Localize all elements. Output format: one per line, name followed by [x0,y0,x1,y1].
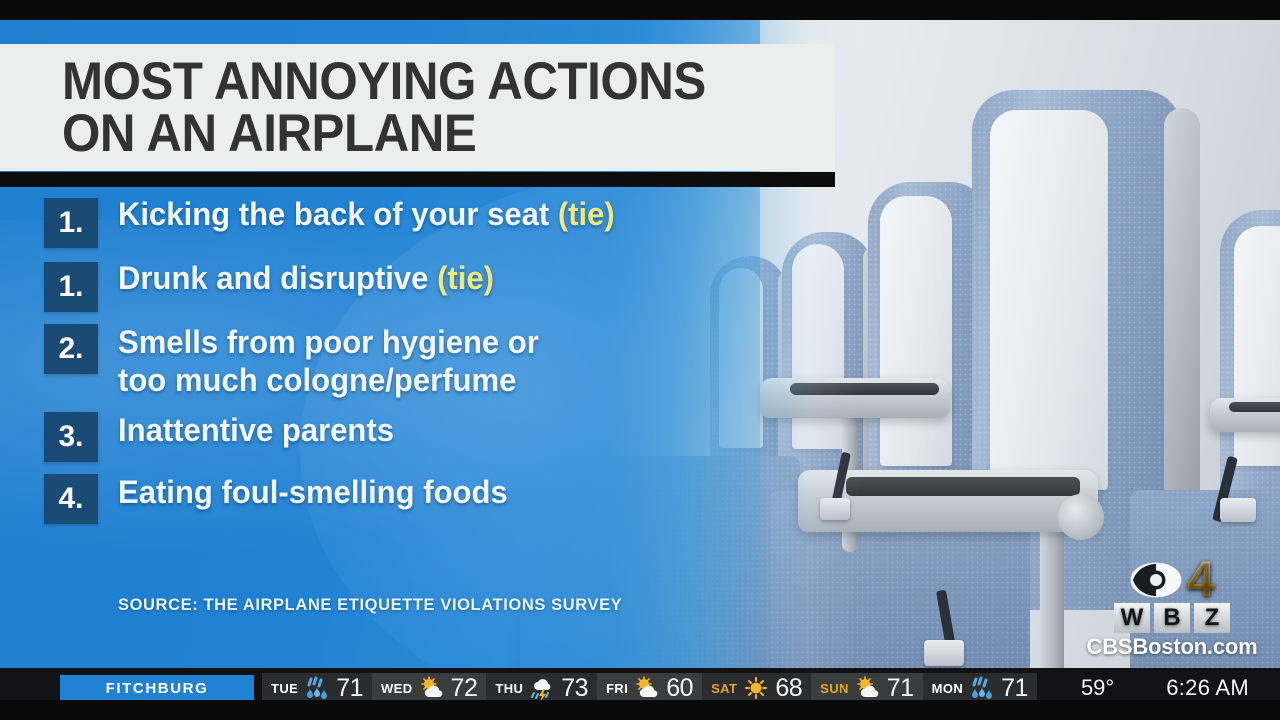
letterbox-bottom [0,700,1280,720]
headline-card: MOST ANNOYING ACTIONS ON AN AIRPLANE [0,44,835,171]
callsign-letter-b: B [1154,603,1190,633]
forecast-day-fri: FRI 60 [597,673,702,703]
forecast-high: 73 [561,674,588,703]
tie-marker: (tie) [437,260,494,296]
rain-icon [969,676,995,700]
logo-top-row: 4 [1082,557,1262,602]
list-item-text: Eating foul-smelling foods [118,474,508,512]
ticker-city-label: FITCHBURG [60,675,254,701]
forecast-high: 71 [1001,674,1028,703]
channel-number: 4 [1187,557,1215,602]
forecast-high: 68 [775,674,802,703]
station-website: CBSBoston.com [1082,634,1262,660]
tie-marker: (tie) [558,196,615,232]
forecast-day-label: TUE [271,681,298,696]
rank-badge: 1. [44,198,98,248]
sun-icon [743,676,769,700]
current-temperature: 59° [1081,675,1114,701]
thunderstorm-icon [529,676,555,700]
forecast-high: 71 [887,674,914,703]
rank-badge: 4. [44,474,98,524]
video-frame: MOST ANNOYING ACTIONS ON AN AIRPLANE 1. … [0,20,1280,710]
list-item: 3. Inattentive parents [44,412,744,462]
seatbelt-buckle-3 [1220,498,1256,522]
list-item: 2. Smells from poor hygiene or too much … [44,324,744,400]
forecast-day-label: MON [932,681,964,696]
list-item: 1. Drunk and disruptive (tie) [44,260,744,312]
rank-badge: 3. [44,412,98,462]
list-item-text: Drunk and disruptive [118,260,437,296]
forecast-day-sat: SAT 68 [702,673,811,703]
list-item-text: Smells from poor hygiene or too much col… [118,324,539,400]
rain-icon [304,676,330,700]
rank-badge: 1. [44,262,98,312]
list-item: 4. Eating foul-smelling foods [44,474,744,524]
forecast-day-label: FRI [606,681,628,696]
list-item-label: Drunk and disruptive (tie) [118,260,494,298]
letterbox-top [0,0,1280,20]
ranked-list: 1. Kicking the back of your seat (tie) 1… [44,196,744,536]
clock: 6:26 AM [1166,675,1249,701]
list-item-text: Inattentive parents [118,412,394,450]
forecast-day-sun: SUN 71 [811,673,922,703]
forecast-day-label: THU [495,681,523,696]
armrest-right [1210,398,1280,432]
headline-underline [0,172,835,187]
forecast-high: 60 [666,674,693,703]
sun-behind-cloud-icon [634,676,660,700]
forecast-strip: TUE 71 WED [262,673,1037,703]
station-logo-bug: 4 W B Z CBSBoston.com [1082,557,1262,660]
broadcast-screen: MOST ANNOYING ACTIONS ON AN AIRPLANE 1. … [0,0,1280,720]
callsign-letter-z: Z [1194,603,1230,633]
rank-badge: 2. [44,324,98,374]
forecast-day-thu: THU 73 [486,673,597,703]
seatbelt-buckle-2 [924,640,964,666]
sun-behind-cloud-icon [855,676,881,700]
forecast-high: 72 [451,674,478,703]
forecast-day-label: SAT [711,681,737,696]
list-item: 1. Kicking the back of your seat (tie) [44,196,744,248]
forecast-day-label: WED [381,681,413,696]
forecast-day-tue: TUE 71 [262,673,372,703]
forecast-day-wed: WED 72 [372,673,486,703]
forecast-high: 71 [336,674,363,703]
forecast-day-mon: MON 71 [923,673,1037,703]
callsign-letter-w: W [1114,603,1150,633]
sun-behind-cloud-icon [419,676,445,700]
cbs-eye-icon [1129,561,1183,599]
forecast-day-label: SUN [820,681,849,696]
list-item-text: Kicking the back of your seat [118,196,558,232]
list-item-label: Kicking the back of your seat (tie) [118,196,615,234]
source-attribution: SOURCE: THE AIRPLANE ETIQUETTE VIOLATION… [118,596,622,615]
page-title: MOST ANNOYING ACTIONS ON AN AIRPLANE [62,56,781,161]
callsign-row: W B Z [1082,603,1262,633]
